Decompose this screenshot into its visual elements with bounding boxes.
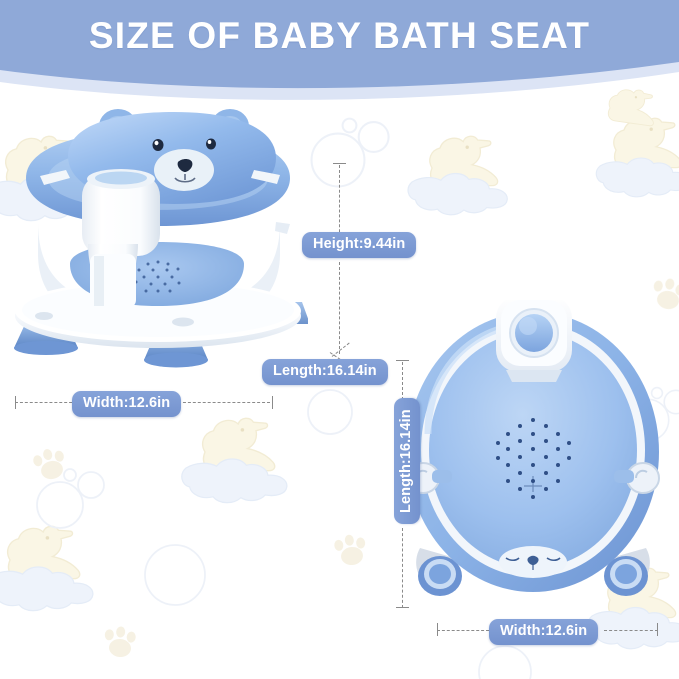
badge-length-side: Length:16.14in: [262, 359, 388, 385]
page-title: SIZE OF BABY BATH SEAT: [0, 14, 679, 58]
top-width-line-right: [604, 630, 658, 631]
badge-width-side: Width:12.6in: [72, 391, 181, 417]
height-line-cap-bottom-b: [332, 343, 350, 357]
top-length-cap-bottom: [396, 607, 409, 608]
badge-length-top: Length:16.14in: [394, 398, 420, 524]
bear-eye-right: [206, 139, 216, 150]
badge-width-top: Width:12.6in: [489, 619, 598, 645]
height-dimension-line-lower: [339, 262, 340, 354]
width-line-cap-right: [272, 396, 273, 409]
top-width-cap-right: [657, 623, 658, 636]
bear-eye-left: [153, 139, 164, 151]
width-dimension-line-right: [178, 402, 270, 403]
width-dimension-line-left: [15, 402, 77, 403]
top-width-line-left: [437, 630, 489, 631]
bear-face-marking: [499, 546, 567, 578]
badge-height-side: Height:9.44in: [302, 232, 416, 258]
top-length-cap-top: [396, 360, 409, 361]
header-banner: SIZE OF BABY BATH SEAT: [0, 0, 679, 108]
height-line-cap-top: [333, 163, 346, 164]
baby-bath-seat-side-view: [8, 104, 308, 394]
top-length-line-lower: [402, 528, 403, 608]
infographic-canvas: SIZE OF BABY BATH SEAT: [0, 0, 679, 679]
baby-bath-seat-top-view: [402, 300, 664, 618]
